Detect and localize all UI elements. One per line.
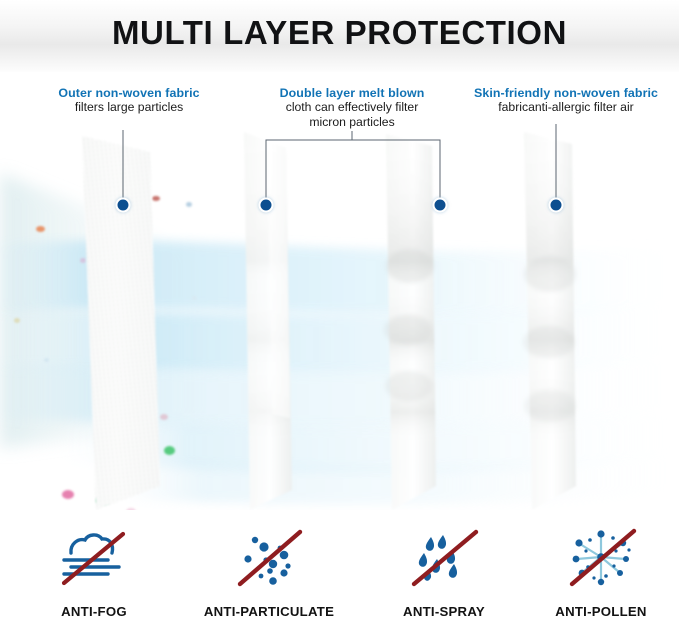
feature-anti-fog: ANTI-FOG bbox=[14, 512, 174, 627]
callout-dot-melt-front bbox=[259, 198, 274, 213]
pollen-icon bbox=[558, 526, 644, 588]
fog-icon bbox=[51, 526, 137, 588]
sheet-melt-blown-back bbox=[384, 134, 436, 510]
callout-dot-skin bbox=[549, 198, 564, 213]
page-title: MULTI LAYER PROTECTION bbox=[0, 14, 679, 52]
sheet-outer-non-woven bbox=[82, 136, 160, 510]
caption-melt-lead: Double layer melt blown bbox=[243, 86, 461, 100]
caption-skin-friendly: Skin-friendly non-woven fabric fabricant… bbox=[452, 86, 679, 115]
caption-outer-fabric: Outer non-woven fabric filters large par… bbox=[14, 86, 244, 115]
sheet-skin-friendly bbox=[523, 132, 576, 510]
feature-label-anti-spray: ANTI-SPRAY bbox=[364, 604, 524, 619]
feature-label-anti-pollen: ANTI-POLLEN bbox=[526, 604, 676, 619]
feature-anti-spray: ANTI-SPRAY bbox=[364, 512, 524, 627]
feature-label-anti-fog: ANTI-FOG bbox=[14, 604, 174, 619]
feature-row: ANTI-FOG bbox=[0, 512, 679, 627]
callout-dot-outer bbox=[116, 198, 131, 213]
caption-outer-lead: Outer non-woven fabric bbox=[14, 86, 244, 100]
particulate-icon bbox=[226, 526, 312, 588]
fabric-layer-sheets bbox=[0, 118, 679, 510]
caption-skin-sub: fabricanti-allergic filter air bbox=[452, 100, 679, 114]
caption-skin-lead: Skin-friendly non-woven fabric bbox=[452, 86, 679, 100]
callout-dot-melt-back bbox=[433, 198, 448, 213]
spray-icon bbox=[401, 526, 487, 588]
feature-label-anti-particulate: ANTI-PARTICULATE bbox=[176, 604, 362, 619]
caption-outer-sub: filters large particles bbox=[14, 100, 244, 114]
feature-anti-pollen: ANTI-POLLEN bbox=[526, 512, 676, 627]
sheet-melt-blown-front bbox=[244, 132, 292, 510]
layer-illustration bbox=[0, 118, 679, 510]
feature-anti-particulate: ANTI-PARTICULATE bbox=[176, 512, 362, 627]
infographic-root: MULTI LAYER PROTECTION Outer non-woven f… bbox=[0, 0, 679, 627]
caption-melt-sub-1: cloth can effectively filter bbox=[243, 100, 461, 114]
